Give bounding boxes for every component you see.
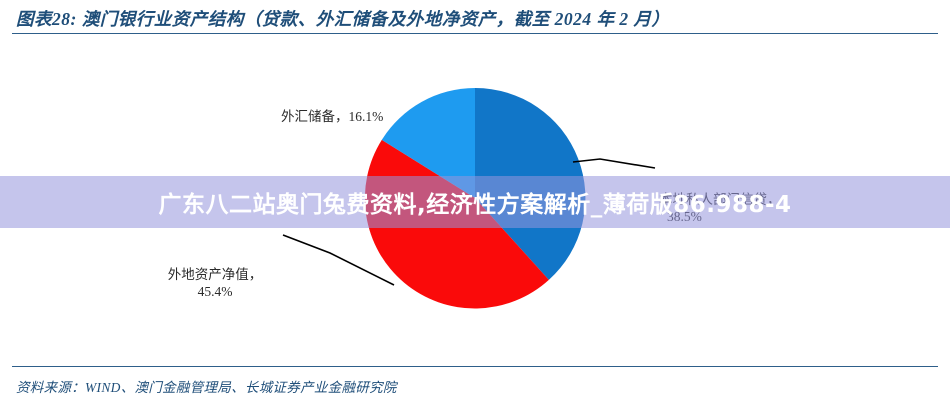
pie-chart-svg — [0, 38, 950, 366]
footer-divider — [12, 366, 938, 367]
pie-label-external-net-assets: 外地资产净值， 45.4% — [150, 266, 280, 300]
pie-label-local-private-credit-value: 38.5% — [659, 208, 781, 225]
pie-label-external-net-assets-line1: 外地资产净值， — [168, 267, 263, 282]
header-divider — [12, 33, 938, 34]
pie-label-external-net-assets-value: 45.4% — [150, 283, 280, 300]
pie-label-local-private-credit-line1: 本地私人部门信贷， — [659, 192, 781, 207]
leader-line-local-private-credit — [573, 159, 655, 168]
page-title: 图表28: 澳门银行业资产结构（贷款、外汇储备及外地净资产，截至 2024 年 … — [16, 6, 669, 31]
pie-chart-plot-area: 外汇储备，16.1% 本地私人部门信贷， 38.5% 外地资产净值， 45.4% — [0, 38, 950, 366]
chart-figure: 图表28: 澳门银行业资产结构（贷款、外汇储备及外地净资产，截至 2024 年 … — [0, 0, 950, 400]
pie-label-foreign-exchange-reserves: 外汇储备，16.1% — [281, 108, 383, 125]
pie-label-local-private-credit: 本地私人部门信贷， 38.5% — [659, 191, 781, 225]
source-note: 资料来源：WIND、澳门金融管理局、长城证券产业金融研究院 — [16, 376, 397, 396]
